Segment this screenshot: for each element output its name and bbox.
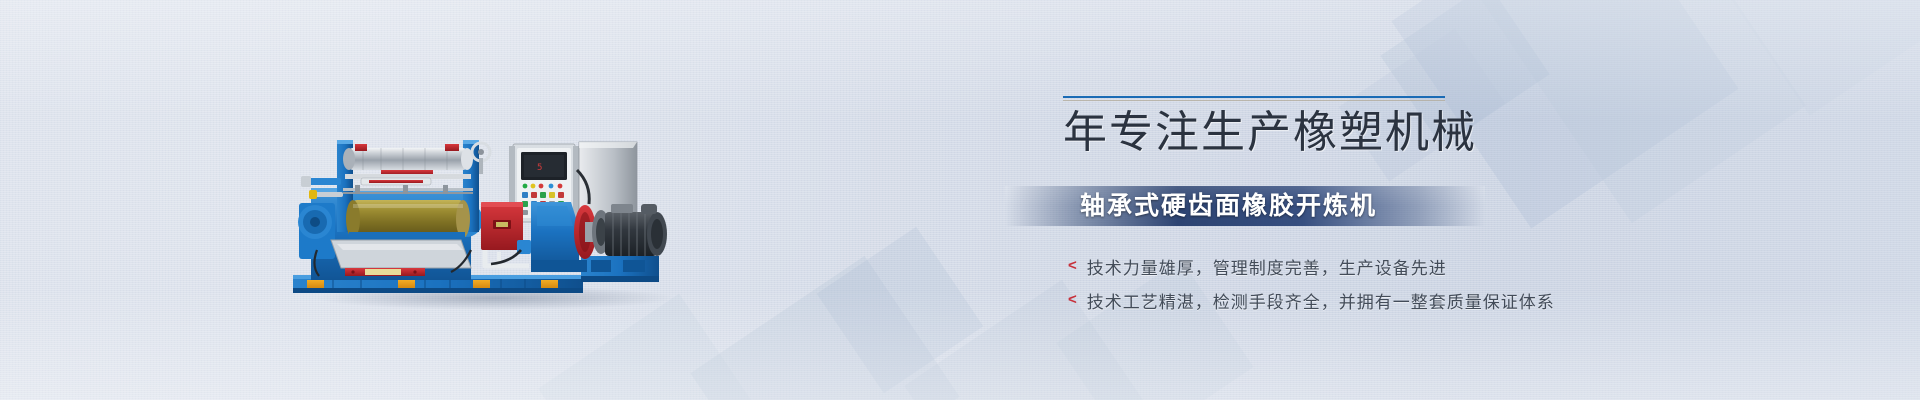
headline-divider (1063, 96, 1445, 101)
svg-text:5: 5 (537, 163, 542, 173)
list-item: < 技术工艺精湛，检测手段齐全，并拥有一整套质量保证体系 (1068, 283, 1588, 317)
subtitle-text: 轴承式硬齿面橡胶开炼机 (1080, 186, 1377, 226)
divider-line-blue (1063, 96, 1445, 98)
chevron-left-icon: < (1068, 292, 1077, 307)
list-item-label: 技术工艺精湛，检测手段齐全，并拥有一整套质量保证体系 (1087, 288, 1555, 313)
page-title: 年专注生产橡塑机械 (1063, 105, 1483, 161)
promo-banner: 5 (0, 0, 1920, 400)
feature-list: < 技术力量雄厚，管理制度完善，生产设备先进 < 技术工艺精湛，检测手段齐全，并… (1068, 249, 1588, 317)
list-item-label: 技术力量雄厚，管理制度完善，生产设备先进 (1087, 254, 1447, 279)
chevron-left-icon: < (1068, 258, 1077, 273)
list-item: < 技术力量雄厚，管理制度完善，生产设备先进 (1068, 249, 1588, 283)
divider-line-tan (1063, 100, 1445, 101)
product-image: 5 (285, 100, 705, 310)
